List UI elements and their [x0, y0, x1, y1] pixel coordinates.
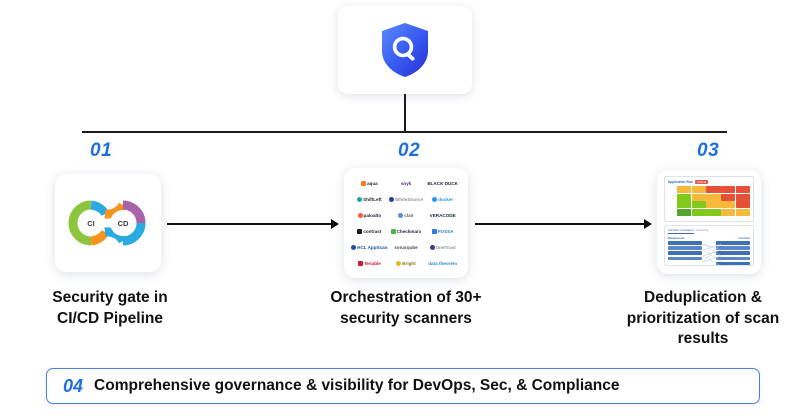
step-card-03: Application Risk Critical Standard Corre…	[657, 170, 761, 274]
vendor-logo: paloalto	[358, 213, 382, 218]
vendor-logo: VERACODE	[430, 213, 456, 218]
connector-horizontal-line	[82, 131, 727, 133]
vendor-logo: FOSSA	[432, 229, 454, 234]
step-number-01: 01	[90, 140, 112, 162]
list-item	[668, 246, 702, 250]
vendor-logo: docker	[432, 197, 453, 202]
summary-text: Comprehensive governance & visibility fo…	[94, 377, 619, 395]
risk-matrix-panel: Application Risk Critical	[664, 176, 754, 222]
map-right-header: Controls	[739, 236, 751, 240]
vendor-logo: WhiteSource	[389, 197, 423, 202]
step-card-01: CI CD	[55, 174, 161, 272]
step-number-04: 04	[63, 376, 83, 397]
list-item	[668, 257, 702, 261]
caption-line: Deduplication &	[604, 288, 802, 309]
scanner-logo-grid: aqua snyk BLACK DUCK ShiftLeft WhiteSour…	[351, 175, 461, 271]
step-number-03: 03	[697, 140, 719, 162]
map-left-header: Weaknesses	[668, 236, 685, 240]
caption-line: CI/CD Pipeline	[12, 309, 208, 330]
brand-logo-card	[338, 6, 472, 94]
vendor-logo: sonarqube	[394, 245, 417, 250]
correlation-tabs: Standard Correlations Clustering	[668, 229, 750, 234]
tab-standard-correlations[interactable]: Standard Correlations	[668, 229, 694, 234]
vendor-logo: data theorem	[428, 261, 457, 266]
arrow-step1-to-step2	[167, 219, 339, 229]
vendor-logo: HCL AppScan	[351, 245, 387, 250]
caption-line: prioritization of scan	[604, 309, 802, 330]
svg-text:CD: CD	[118, 219, 129, 228]
vendor-logo: Tenable	[358, 261, 381, 266]
correlation-column-headers: Weaknesses Controls	[668, 236, 750, 240]
connector-stem	[404, 94, 406, 132]
map-right-column	[716, 241, 750, 265]
list-item	[716, 262, 750, 266]
list-item	[716, 251, 750, 255]
vendor-logo: Checkmarx	[391, 229, 422, 234]
svg-text:CI: CI	[87, 219, 95, 228]
summary-bar: 04 Comprehensive governance & visibility…	[46, 368, 760, 404]
caption-line: Security gate in	[12, 288, 208, 309]
devops-infinity-loop-icon: CI CD	[65, 196, 151, 255]
risk-dashboard: Application Risk Critical Standard Corre…	[664, 176, 754, 268]
mapping-lines	[703, 242, 721, 268]
list-item	[668, 241, 702, 245]
vendor-logo: ShiftLeft	[357, 197, 382, 202]
list-item	[668, 251, 702, 255]
infographic-canvas: 01 02 03 CI CD	[0, 0, 807, 420]
vendor-logo: snyk	[401, 181, 411, 186]
step-caption-03: Deduplication & prioritization of scan r…	[604, 288, 802, 350]
risk-heatmap	[677, 186, 750, 216]
list-item	[716, 257, 750, 261]
step-card-02: aqua snyk BLACK DUCK ShiftLeft WhiteSour…	[344, 168, 468, 278]
shield-search-icon	[379, 21, 431, 79]
list-item	[716, 246, 750, 250]
step-caption-02: Orchestration of 30+ security scanners	[300, 288, 512, 329]
vendor-logo: clair	[398, 213, 413, 218]
risk-matrix-header: Application Risk Critical	[668, 180, 750, 184]
vendor-logo: OneTrust	[430, 245, 456, 250]
map-left-column	[668, 241, 702, 265]
arrow-step2-to-step3	[475, 219, 652, 229]
caption-line: security scanners	[300, 309, 512, 330]
correlation-mapping	[668, 241, 750, 265]
list-item	[716, 241, 750, 245]
tab-clustering[interactable]: Clustering	[696, 229, 708, 234]
caption-line: results	[604, 329, 802, 350]
vendor-logo: aqua	[361, 181, 378, 186]
step-number-02: 02	[398, 140, 420, 162]
risk-matrix-badge: Critical	[695, 180, 708, 184]
vendor-logo: Bright	[396, 261, 416, 266]
vendor-logo: BLACK DUCK	[427, 181, 458, 186]
step-caption-01: Security gate in CI/CD Pipeline	[12, 288, 208, 329]
correlation-panel: Standard Correlations Clustering Weaknes…	[664, 225, 754, 266]
risk-matrix-title: Application Risk	[668, 180, 693, 184]
vendor-logo: contrast	[357, 229, 381, 234]
caption-line: Orchestration of 30+	[300, 288, 512, 309]
